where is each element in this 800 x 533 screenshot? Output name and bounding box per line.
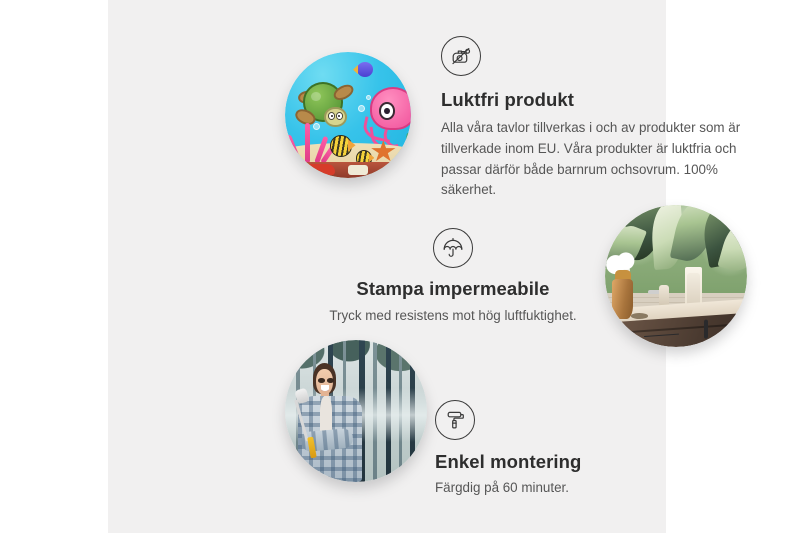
product-features-graphic: Luktfri produkt Alla våra tavlor tillver… — [0, 0, 800, 533]
room-floor-band — [285, 162, 411, 178]
feature-description: Tryck med resistens mot hög luftfuktighe… — [308, 306, 598, 327]
feature-title: Enkel montering — [435, 451, 725, 473]
feature-description: Alla våra tavlor tillverkas i och av pro… — [441, 118, 741, 201]
blue-fish-icon — [353, 62, 373, 77]
pink-coral-icon — [289, 123, 327, 163]
paint-roller-icon — [435, 400, 475, 440]
bathroom-tropical-leaf-wallpaper-photo — [605, 205, 747, 347]
feature-block-assembly: Enkel montering Färgdig på 60 minuter. — [435, 400, 725, 499]
feature-block-waterproof: Stampa impermeabile Tryck med resistens … — [308, 228, 598, 327]
content-panel: Luktfri produkt Alla våra tavlor tillver… — [108, 0, 666, 533]
feature-description: Färgdig på 60 minuter. — [435, 478, 725, 499]
feature-title: Luktfri produkt — [441, 89, 741, 111]
underwater-cartoon-wallpaper-photo — [285, 52, 411, 178]
feature-title: Stampa impermeabile — [308, 278, 598, 300]
woman-with-paint-roller-forest-wallpaper-photo — [285, 340, 427, 482]
no-odor-perfume-icon — [441, 36, 481, 76]
woman-figure — [294, 363, 374, 482]
soap-dish — [631, 313, 648, 319]
brass-vase — [612, 279, 633, 319]
umbrella-icon — [433, 228, 473, 268]
yellow-striped-fish-icon — [330, 135, 355, 155]
feature-block-odorless: Luktfri produkt Alla våra tavlor tillver… — [441, 36, 741, 201]
octopus-icon — [361, 87, 411, 147]
